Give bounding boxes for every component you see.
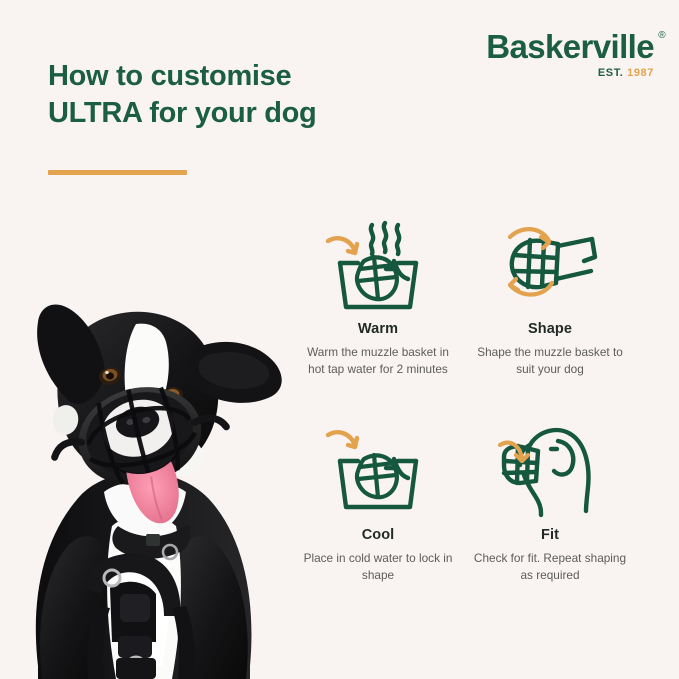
step-warm: Warm Warm the muzzle basket in hot tap w… (292, 212, 464, 378)
steps-row-1: Warm Warm the muzzle basket in hot tap w… (292, 212, 636, 378)
steps-row-gap (292, 378, 636, 418)
brand-name-text: Baskerville (486, 28, 654, 65)
page-title-line-2: ULTRA for your dog (48, 97, 316, 129)
step-description: Shape the muzzle basket to suit your dog (464, 344, 636, 378)
step-fit: Fit Check for fit. Repeat shaping as req… (464, 418, 636, 584)
step-title: Fit (464, 527, 636, 543)
step-title: Cool (292, 527, 464, 543)
shape-muzzle-icon (464, 212, 636, 317)
step-description: Check for fit. Repeat shaping as require… (464, 550, 636, 584)
page-title: How to customise ULTRA for your dog (48, 58, 388, 132)
steps-row-2: Cool Place in cold water to lock in shap… (292, 418, 636, 584)
warm-basin-icon (292, 212, 464, 317)
fit-dog-head-icon (464, 418, 636, 523)
title-underline-rule (48, 170, 187, 175)
cool-basin-icon (292, 418, 464, 523)
registered-trademark-icon: ® (658, 31, 665, 41)
step-description: Place in cold water to lock in shape (292, 550, 464, 584)
brand-name: Baskerville ® (486, 30, 654, 63)
established-year: 1987 (627, 67, 654, 79)
step-shape: Shape Shape the muzzle basket to suit yo… (464, 212, 636, 378)
step-title: Warm (292, 321, 464, 337)
promo-page: Baskerville ® EST. 1987 How to customise… (0, 0, 679, 679)
established-label: EST. (598, 67, 624, 79)
step-cool: Cool Place in cold water to lock in shap… (292, 418, 464, 584)
dog-photo (0, 196, 290, 679)
step-description: Warm the muzzle basket in hot tap water … (292, 344, 464, 378)
brand-established: EST. 1987 (474, 67, 654, 79)
step-title: Shape (464, 321, 636, 337)
steps-grid: Warm Warm the muzzle basket in hot tap w… (292, 212, 636, 584)
page-title-line-1: How to customise (48, 60, 291, 92)
brand-logo: Baskerville ® EST. 1987 (474, 30, 654, 79)
